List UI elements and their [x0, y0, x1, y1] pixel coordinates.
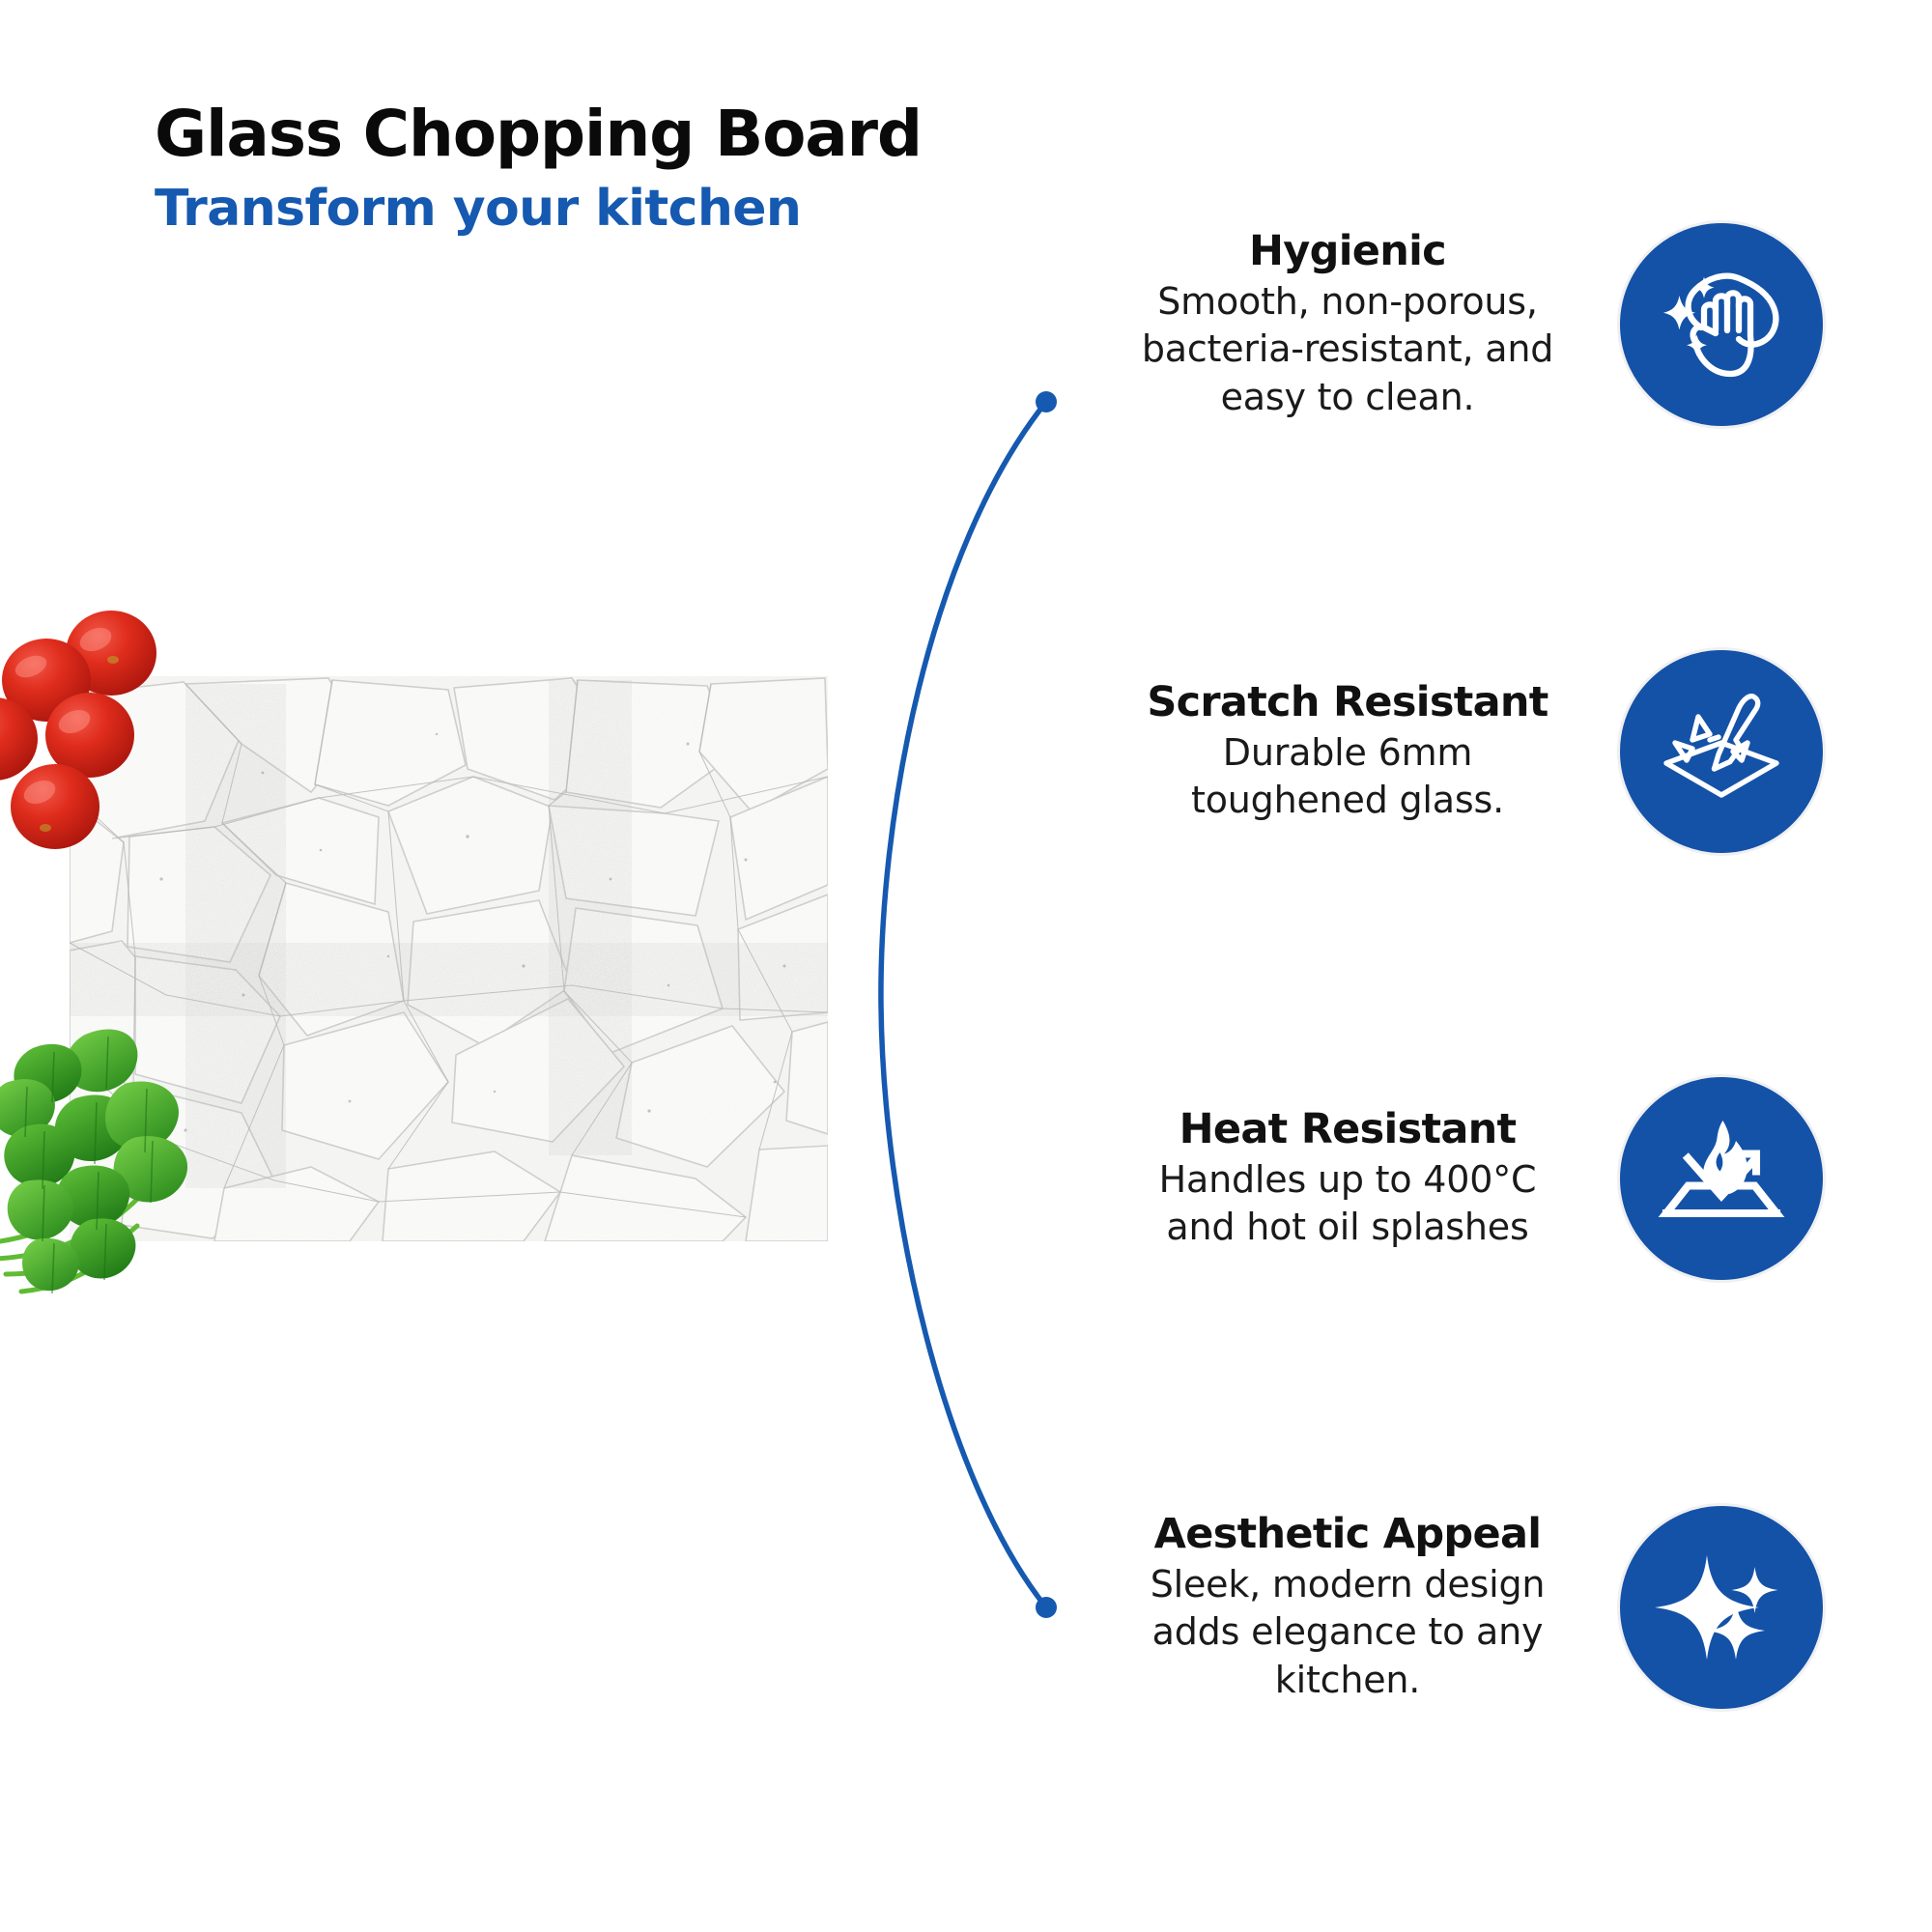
- feature-icon-badge[interactable]: [1617, 1503, 1826, 1712]
- feature-icon-badge[interactable]: [1617, 647, 1826, 856]
- infographic-canvas: Glass Chopping Board Transform your kitc…: [0, 0, 1932, 1932]
- feature-description: Handles up to 400°C and hot oil splashes: [1121, 1156, 1575, 1252]
- feature-title: Hygienic: [1121, 228, 1575, 274]
- feature-hygienic: Hygienic Smooth, non-porous, bacteria-re…: [850, 220, 1826, 429]
- feature-description: Smooth, non-porous, bacteria-resistant, …: [1121, 278, 1575, 421]
- feature-text-block: Scratch Resistant Durable 6mm toughened …: [1121, 679, 1575, 825]
- feature-heat-resistant: Heat Resistant Handles up to 400°C and h…: [850, 1074, 1826, 1283]
- flame-deflect-arrow-icon: [1649, 1106, 1794, 1251]
- feature-title: Aesthetic Appeal: [1121, 1511, 1575, 1557]
- connector-curve: [850, 367, 1101, 1642]
- feature-title: Heat Resistant: [1121, 1106, 1575, 1152]
- feature-text-block: Heat Resistant Handles up to 400°C and h…: [1121, 1106, 1575, 1252]
- sparkle-stars-icon: [1649, 1535, 1794, 1680]
- knife-impact-surface-icon: [1649, 679, 1794, 824]
- feature-scratch-resistant: Scratch Resistant Durable 6mm toughened …: [850, 647, 1826, 856]
- feature-text-block: Aesthetic Appeal Sleek, modern design ad…: [1121, 1511, 1575, 1704]
- feature-text-block: Hygienic Smooth, non-porous, bacteria-re…: [1121, 228, 1575, 421]
- feature-description: Durable 6mm toughened glass.: [1121, 729, 1575, 825]
- feature-description: Sleek, modern design adds elegance to an…: [1121, 1561, 1575, 1704]
- feature-icon-badge[interactable]: [1617, 1074, 1826, 1283]
- hand-wipe-sparkle-icon: [1649, 252, 1794, 397]
- feature-aesthetic-appeal: Aesthetic Appeal Sleek, modern design ad…: [850, 1503, 1826, 1712]
- feature-icon-badge[interactable]: [1617, 220, 1826, 429]
- product-image: [70, 676, 828, 1241]
- page-title: Glass Chopping Board: [155, 100, 1217, 168]
- header-block: Glass Chopping Board Transform your kitc…: [155, 100, 1217, 237]
- feature-title: Scratch Resistant: [1121, 679, 1575, 725]
